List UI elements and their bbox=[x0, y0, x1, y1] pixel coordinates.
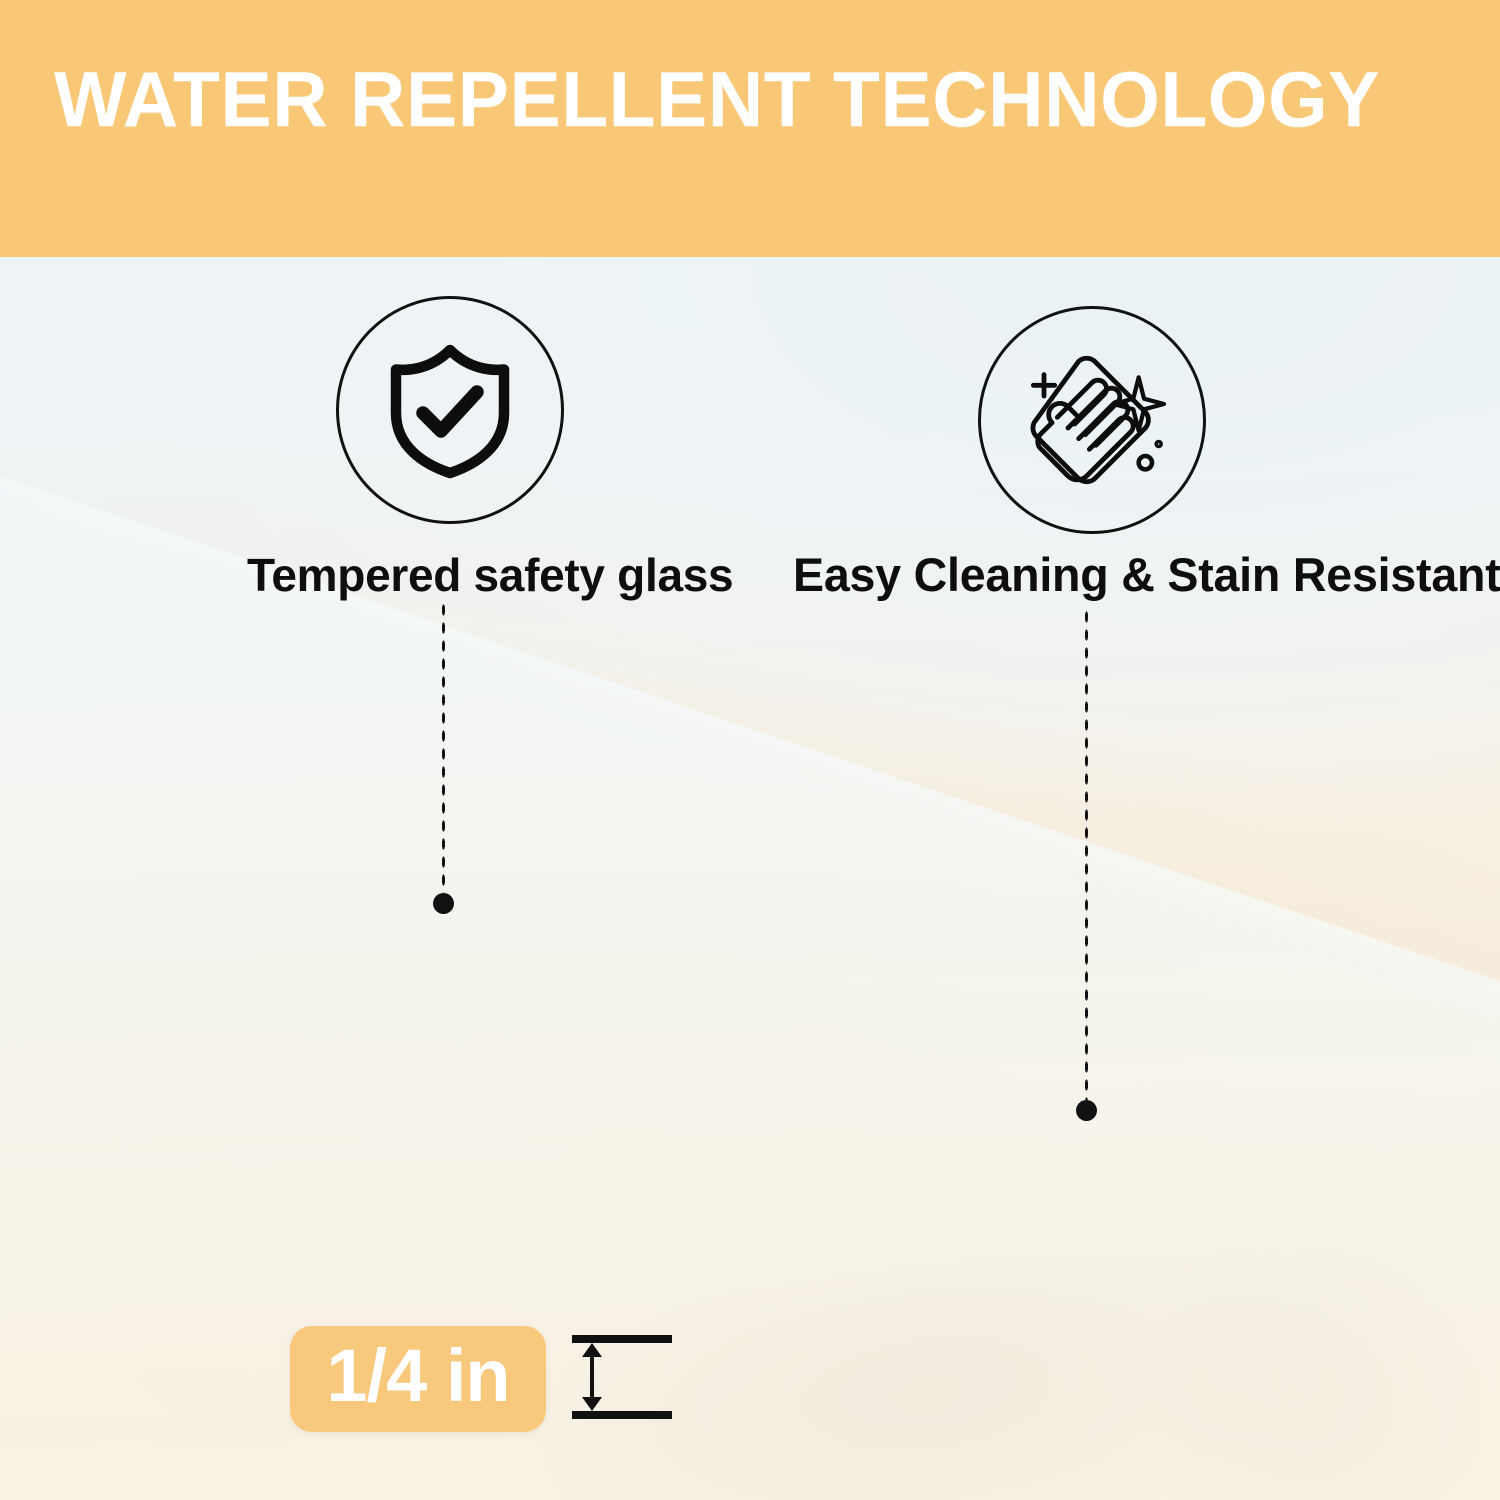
page-title: WATER REPELLENT TECHNOLOGY bbox=[54, 56, 1453, 142]
dimension-line-bottom bbox=[572, 1411, 672, 1419]
feature-icon-circle-easy-cleaning bbox=[978, 306, 1206, 534]
infographic-page: WATER REPELLENT TECHNOLOGY 1/4 in bbox=[0, 0, 1500, 1500]
hand-wiping-sparkle-icon bbox=[1012, 340, 1172, 500]
dimension-arrow-head-up bbox=[582, 1343, 602, 1357]
shield-check-icon bbox=[375, 335, 525, 485]
thickness-dimension-indicator bbox=[572, 1335, 672, 1419]
feature-label-tempered-safety-glass: Tempered safety glass bbox=[247, 549, 733, 601]
dimension-arrow-head-down bbox=[582, 1397, 602, 1411]
glass-edge-highlight bbox=[0, 365, 1500, 1500]
product-photo: 1/4 in bbox=[0, 257, 1500, 1500]
dimension-line-top bbox=[572, 1335, 672, 1343]
leader-line-easy-cleaning bbox=[1080, 608, 1093, 1100]
leader-line-tempered-safety-glass bbox=[437, 601, 450, 893]
header-banner: WATER REPELLENT TECHNOLOGY bbox=[0, 0, 1500, 257]
leader-endpoint-dot bbox=[1076, 1100, 1097, 1121]
leader-dots bbox=[441, 601, 446, 893]
tempered-glass-panel bbox=[0, 257, 1500, 1500]
thickness-badge-label: 1/4 in bbox=[326, 1339, 509, 1413]
thickness-badge: 1/4 in bbox=[290, 1326, 546, 1432]
leader-dots bbox=[1084, 608, 1089, 1100]
leader-endpoint-dot bbox=[433, 893, 454, 914]
feature-label-easy-cleaning: Easy Cleaning & Stain Resistant bbox=[793, 549, 1500, 601]
feature-icon-circle-tempered-safety-glass bbox=[336, 296, 564, 524]
